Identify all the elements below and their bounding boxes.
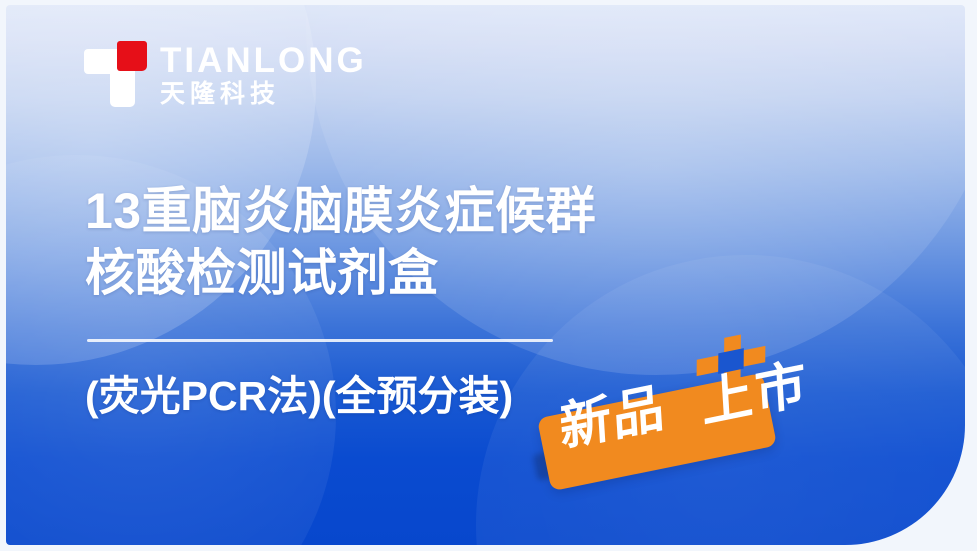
logo-mark-red-square — [117, 41, 147, 71]
headline-line-1: 13重脑炎脑膜炎症候群 — [85, 181, 785, 243]
tianlong-logo-mark-icon — [84, 41, 146, 109]
brand-logo-text: TIANLONG 天隆科技 — [160, 41, 367, 110]
brand-logo: TIANLONG 天隆科技 — [84, 41, 367, 110]
brand-name-english: TIANLONG — [160, 43, 367, 79]
product-method-subtitle: (荧光PCR法)(全预分装) — [85, 362, 513, 422]
product-launch-banner: TIANLONG 天隆科技 13重脑炎脑膜炎症候群 核酸检测试剂盒 (荧光PCR… — [0, 0, 977, 551]
new-launch-badge: 新品 上市 — [530, 335, 890, 505]
headline-line-2: 核酸检测试剂盒 — [85, 243, 785, 305]
banner-blue-panel: TIANLONG 天隆科技 13重脑炎脑膜炎症候群 核酸检测试剂盒 (荧光PCR… — [6, 5, 965, 545]
headline-divider — [87, 339, 553, 342]
headline-block: 13重脑炎脑膜炎症候群 核酸检测试剂盒 — [85, 181, 785, 304]
brand-name-chinese: 天隆科技 — [160, 79, 367, 110]
